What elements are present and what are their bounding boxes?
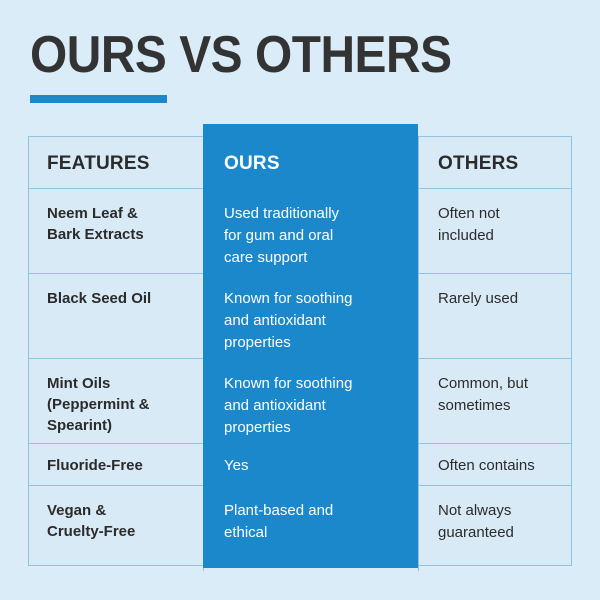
table-row: Mint Oils (Peppermint & Spearint) Known … [29,359,571,444]
ours-value: Yes [204,444,419,485]
feature-label: Black Seed Oil [29,274,204,358]
others-value: Rarely used [419,274,571,358]
others-value: Not always guaranteed [419,486,571,571]
page-title: OURS VS OTHERS [30,26,527,84]
feature-label: Fluoride-Free [29,444,204,485]
others-value: Common, but sometimes [419,359,571,443]
others-value: Often contains [419,444,571,485]
title-accent-bar [30,95,167,103]
table-row: Black Seed Oil Known for soothing and an… [29,274,571,359]
table-row: Neem Leaf & Bark Extracts Used tradition… [29,189,571,274]
column-header-ours: OURS [204,137,419,188]
feature-label: Mint Oils (Peppermint & Spearint) [29,359,204,443]
ours-value: Known for soothing and antioxidant prope… [204,274,419,358]
feature-label: Neem Leaf & Bark Extracts [29,189,204,273]
comparison-table: FEATURES OURS OTHERS Neem Leaf & Bark Ex… [28,136,572,566]
ours-value: Known for soothing and antioxidant prope… [204,359,419,443]
column-header-others: OTHERS [419,137,571,188]
others-value: Often not included [419,189,571,273]
table-row: Vegan & Cruelty-Free Plant-based and eth… [29,486,571,571]
ours-value: Used traditionally for gum and oral care… [204,189,419,273]
table-row: Fluoride-Free Yes Often contains [29,444,571,486]
feature-label: Vegan & Cruelty-Free [29,486,204,571]
title-block: OURS VS OTHERS [30,26,570,103]
column-header-features: FEATURES [29,137,204,188]
table-header-row: FEATURES OURS OTHERS [29,137,571,189]
ours-value: Plant-based and ethical [204,486,419,571]
